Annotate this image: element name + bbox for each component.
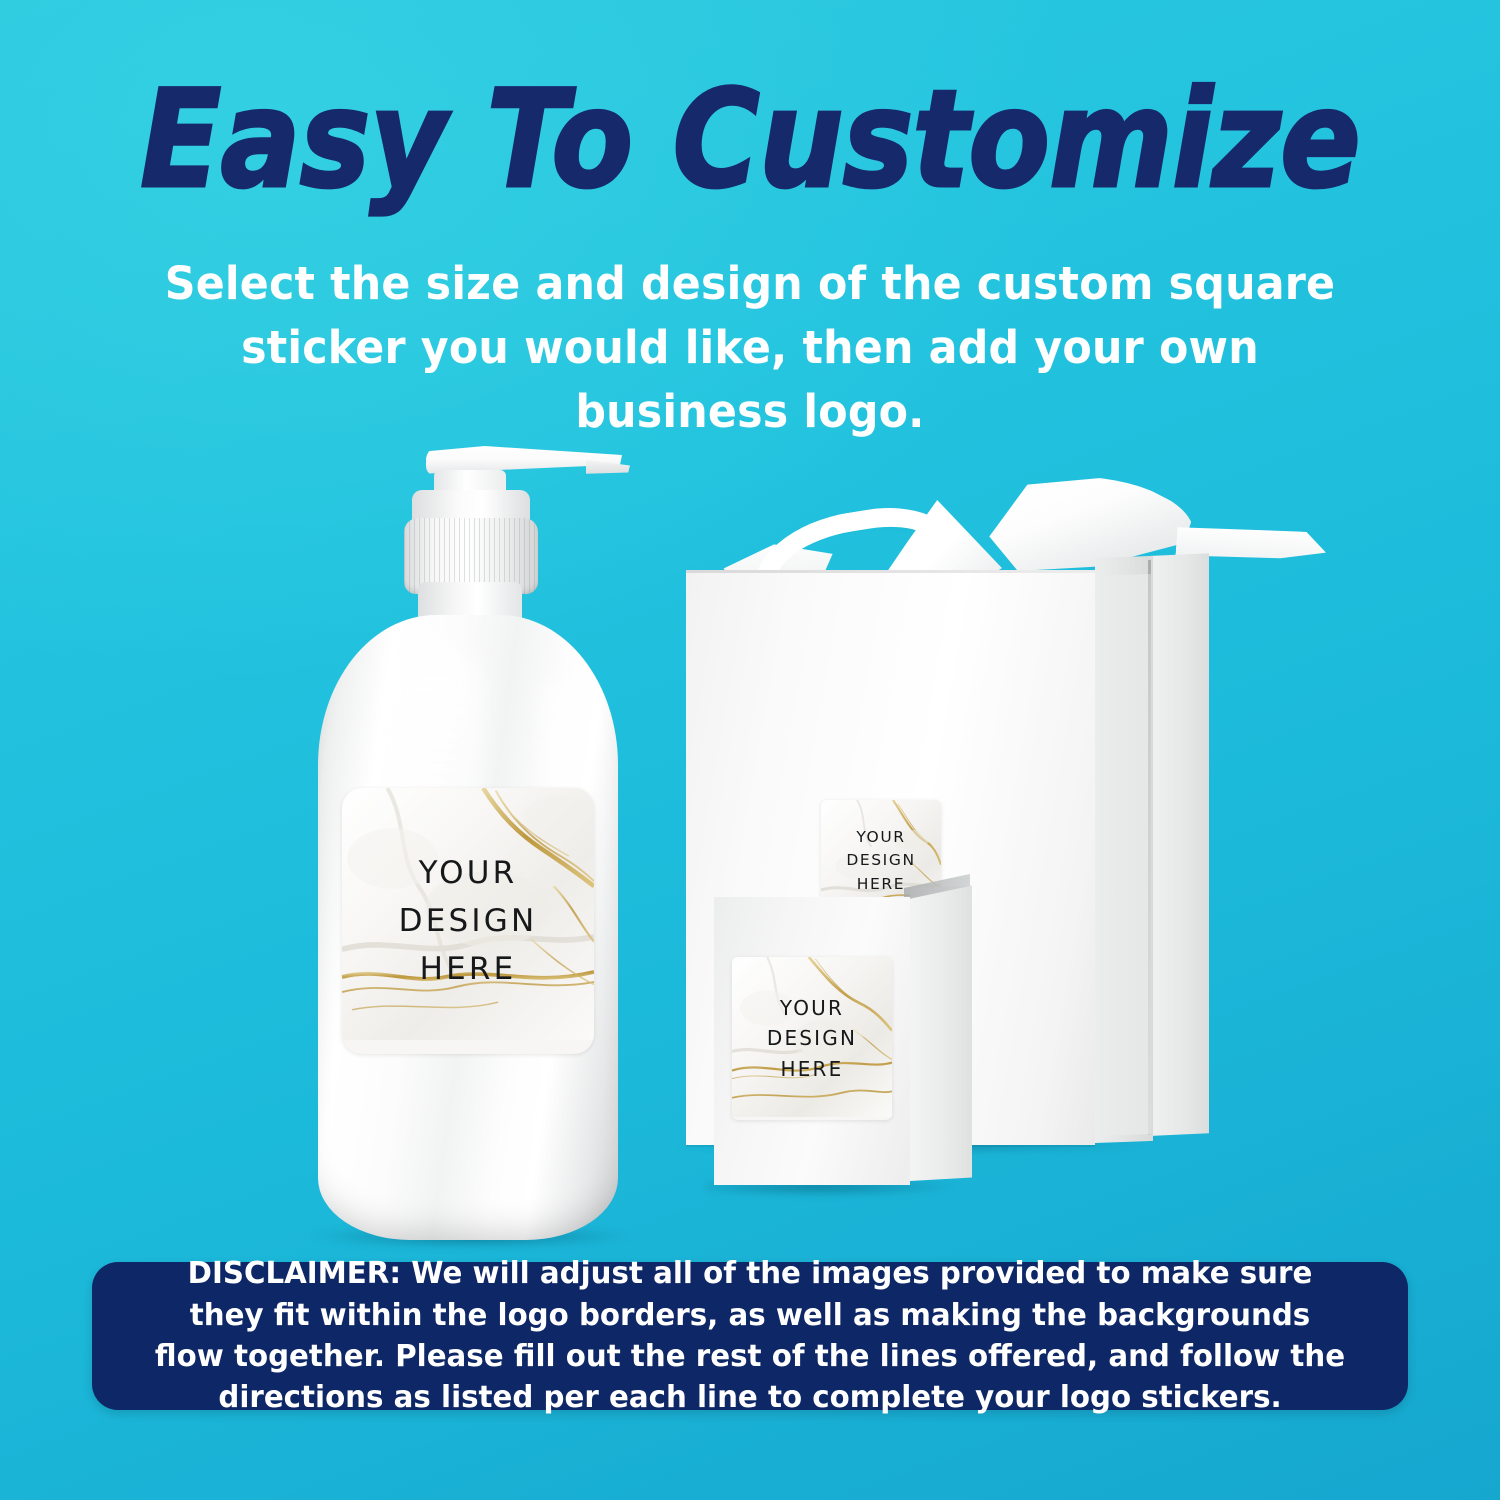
label-on-bottle[interactable]: YOUR DESIGN HERE — [342, 788, 594, 1054]
label-line-3: HERE — [420, 945, 517, 993]
page-title: Easy To Customize — [90, 72, 1410, 207]
sticker-line-2: DESIGN — [846, 849, 915, 873]
sticker-line-2: DESIGN — [767, 1023, 857, 1053]
sticker-label-text: YOUR DESIGN HERE — [732, 957, 892, 1120]
sticker-on-carton[interactable]: YOUR DESIGN HERE — [732, 957, 892, 1120]
sticker-line-3: HERE — [780, 1054, 843, 1084]
sticker-line-1: YOUR — [856, 826, 905, 850]
disclaimer-label: DISCLAIMER: — [188, 1256, 401, 1291]
gift-box-side-panel-outer — [1149, 553, 1209, 1136]
promo-graphic: Easy To Customize Select the size and de… — [0, 0, 1500, 1500]
label-line-1: YOUR — [419, 849, 518, 897]
small-product-carton: YOUR DESIGN HERE — [714, 893, 979, 1193]
pump-bottle: YOUR DESIGN HERE — [300, 430, 640, 1230]
product-scene: YOUR DESIGN HERE — [0, 400, 1500, 1240]
gift-box-ribbon-band — [1095, 574, 1151, 1136]
disclaimer-banner: DISCLAIMER: We will adjust all of the im… — [92, 1262, 1408, 1410]
disclaimer-text: DISCLAIMER: We will adjust all of the im… — [118, 1253, 1381, 1419]
label-text: YOUR DESIGN HERE — [342, 788, 594, 1054]
sticker-line-1: YOUR — [780, 993, 844, 1023]
carton-side-panel — [910, 886, 972, 1181]
label-line-2: DESIGN — [399, 897, 538, 945]
